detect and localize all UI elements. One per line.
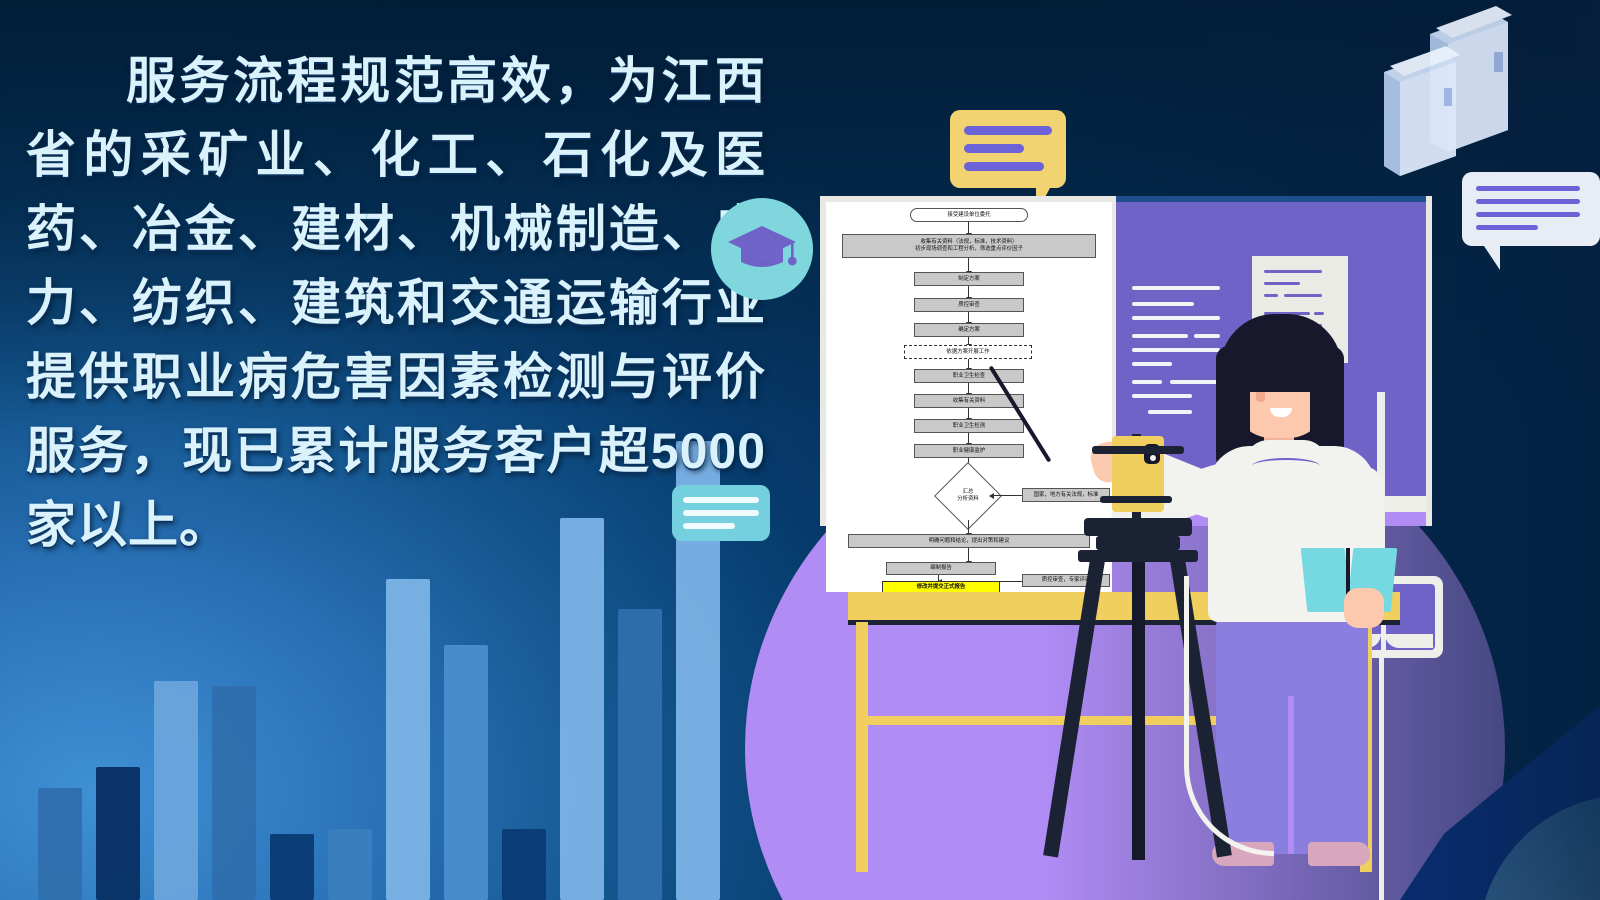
chart-bar [328,829,372,900]
cyan-info-card [672,485,770,541]
yellow-speech-bubble [950,110,1066,188]
poster-line [1314,312,1324,315]
phone-camera-dot [1150,455,1156,461]
flow-arrow [968,383,969,394]
poster-line [1284,294,1322,297]
presenter-shoe-right [1308,842,1370,866]
book-page-curve [1385,634,1433,648]
flow-arrow-horizontal [994,495,1022,496]
flow-arrow [968,548,969,562]
chart-bar [502,829,546,900]
graduation-cap-badge [711,198,813,300]
flow-node-n6: 依据方案开展工作 [904,345,1032,359]
graduation-cap-icon [727,222,797,276]
flow-node-n3: 制定方案 [914,272,1024,286]
board-line [1132,316,1220,320]
flow-arrow [968,312,969,323]
presenter-hand-holding [1344,588,1384,628]
flowchart: 接受建设单位委托 收集有关资料（法规，标准，技术资料） 初步现场调查和工程分析，… [826,202,1112,594]
poster-line [1264,282,1300,285]
board-line [1194,334,1220,338]
desk-leg-left [856,622,868,872]
board-line [1132,394,1192,398]
chart-bar [212,686,256,900]
tripod-leg-center [1132,560,1145,860]
bubble-line [683,523,735,529]
tripod-plate-2 [1096,536,1180,550]
board-line [1132,362,1172,366]
chart-bar [270,834,314,900]
presenter-collar-line [1252,458,1320,474]
board-line [1132,286,1220,290]
flow-arrow [968,520,969,534]
flow-node-n4: 质控审查 [914,298,1024,312]
chart-bar [386,579,430,900]
poster-line [1264,270,1322,273]
board-line [1132,302,1194,306]
chart-bar [618,609,662,900]
flow-arrow [968,408,969,419]
flow-arrow [968,337,969,345]
board-line [1132,348,1220,352]
board-line [1170,380,1220,384]
flow-node-n10: 职业健康监护 [914,444,1024,458]
chart-bar [96,767,140,900]
chart-bar [38,788,82,900]
chart-bar [154,681,198,900]
flow-node-n13: 明确问题和结论，提出对策和建议 [848,534,1090,548]
flow-arrow [968,258,969,272]
flow-node-n5: 确定方案 [914,323,1024,337]
poster-line [1264,294,1278,297]
chart-bar [444,645,488,900]
board-line [1132,380,1162,384]
headline-text: 服务流程规范高效，为江西省的采矿业、化工、石化及医药、冶金、建材、机械制造、电力… [26,44,766,562]
flow-arrow [968,359,969,369]
stacked-books-icon [1378,6,1578,196]
classroom-illustration: 接受建设单位委托 收集有关资料（法规，标准，技术资料） 初步现场调查和工程分析，… [820,196,1600,900]
tripod-crossbar-mid [1100,496,1172,503]
board-line [1148,410,1192,414]
bubble-line [683,497,759,503]
flowchart-sheet: 接受建设单位委托 收集有关资料（法规，标准，技术资料） 初步现场调查和工程分析，… [826,202,1112,592]
flow-arrow [968,222,969,234]
book-sign-stem [1379,651,1384,900]
bubble-line [964,162,1044,171]
bubble-line [683,510,759,516]
flow-node-n14: 编制报告 [886,562,996,575]
flow-node-n2: 收集有关资料（法规，标准，技术资料） 初步现场调查和工程分析，筛选重点评价因子 [842,234,1096,258]
flow-node-n12: 国家，地方有关法规，标准 [1022,488,1110,502]
flow-node-n1: 接受建设单位委托 [910,208,1028,222]
bubble-line [1476,186,1580,191]
poster-canvas: 服务流程规范高效，为江西省的采矿业、化工、石化及医药、冶金、建材、机械制造、电力… [0,0,1600,900]
tripod-plate-3 [1078,550,1198,562]
flow-arrow [968,433,969,444]
chart-bar [560,518,604,900]
tripod-cable [1184,576,1274,856]
tripod-plate-1 [1084,518,1192,536]
tripod-crossbar-top [1092,446,1184,454]
board-line [1132,334,1188,338]
flow-arrow [968,286,969,298]
bubble-line [964,144,1024,153]
flow-node-n9: 职业卫生检测 [914,419,1024,433]
presenter-pants-split [1288,696,1294,854]
flow-node-n7: 职业卫生检查 [914,369,1024,383]
bubble-line [964,126,1052,135]
